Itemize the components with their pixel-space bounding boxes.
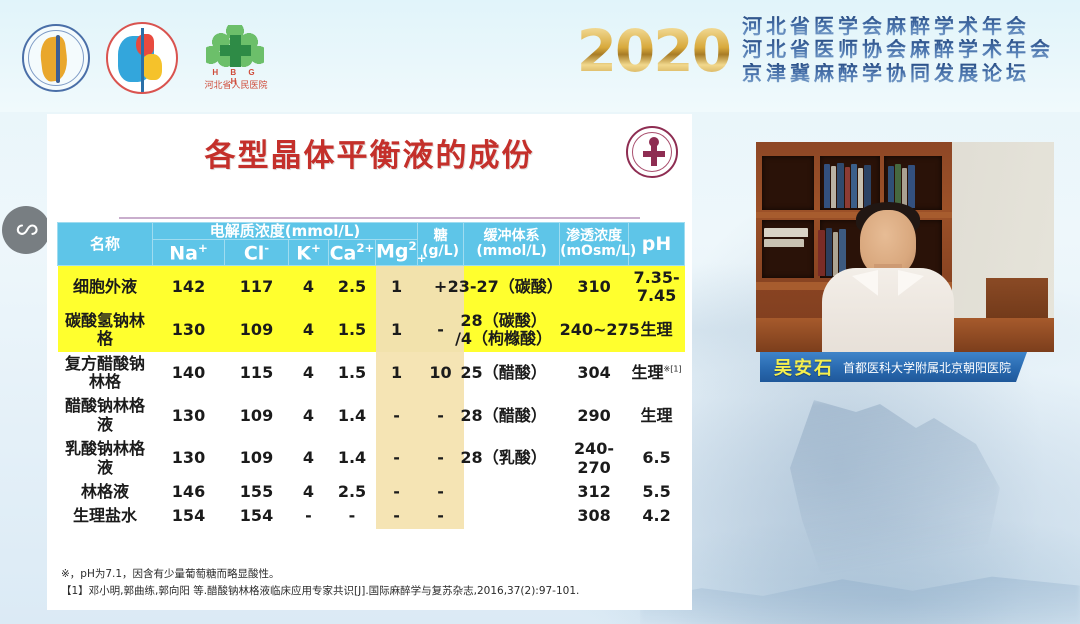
screen: H B G H 河北省人民医院 2020 河北省医学会麻醉学术年会 河北省医师协… (0, 0, 1080, 624)
cell-k: 4 (289, 394, 329, 437)
col-header-k-label: K (296, 242, 311, 264)
cell-osm: 290 (560, 394, 629, 437)
cell-name: 复方醋酸钠林格 (58, 352, 153, 395)
conference-header: H B G H 河北省人民医院 2020 河北省医学会麻醉学术年会 河北省医师协… (0, 0, 1080, 112)
col-header-na-charge: + (198, 241, 208, 255)
cell-ca: 1.5 (329, 309, 376, 352)
cell-na: 142 (153, 266, 225, 309)
speaker-name: 吴安石 (774, 354, 834, 380)
cell-mg: 1 (376, 309, 418, 352)
slide-title-row: 各型晶体平衡液的成份 (47, 114, 692, 188)
cell-ph: 4.2 (629, 504, 685, 528)
cell-name: 生理盐水 (58, 504, 153, 528)
cell-buffer: 28（醋酸） (464, 394, 560, 437)
col-header-ph: pH (629, 223, 685, 266)
cell-na: 130 (153, 309, 225, 352)
col-header-cl-charge: - (264, 241, 269, 255)
sponsor-logo-row: H B G H 河北省人民医院 (22, 22, 278, 94)
cell-name: 细胞外液 (58, 266, 153, 309)
cell-name: 醋酸钠林格液 (58, 394, 153, 437)
cell-buffer: 28（乳酸） (464, 437, 560, 480)
cell-buffer: 23-27（碳酸） (464, 266, 560, 309)
cell-buffer (464, 480, 560, 504)
cell-mg: - (376, 437, 418, 480)
speaker-nameplate: 吴安石 首都医科大学附属北京朝阳医院 (760, 352, 1027, 382)
cell-ca: 2.5 (329, 480, 376, 504)
col-header-cl-label: Cl (244, 242, 264, 264)
slide-title: 各型晶体平衡液的成份 (47, 130, 692, 175)
crystalloid-composition-table: 名称 电解质浓度(mmol/L) 糖 (g/L) 缓冲体系 (mmol/L) 渗… (57, 222, 685, 529)
cell-cl: 109 (225, 394, 289, 437)
cell-mg: 1 (376, 266, 418, 309)
cell-k: 4 (289, 266, 329, 309)
cell-cl: 117 (225, 266, 289, 309)
cell-buffer: 25（醋酸） (464, 352, 560, 395)
cell-ca: 2.5 (329, 266, 376, 309)
cell-ph-note: ※[1] (664, 364, 682, 373)
cell-sugar: - (418, 504, 464, 528)
col-header-na: Na+ (153, 240, 225, 266)
conference-line-1: 河北省医学会麻醉学术年会 (742, 16, 1054, 38)
conference-line-2: 河北省医师协会麻醉学术年会 (742, 39, 1054, 61)
table-body: 细胞外液14211742.51+23-27（碳酸）3107.35-7.45碳酸氢… (58, 266, 685, 529)
col-header-mg-charge2: + (417, 251, 427, 265)
cell-name: 林格液 (58, 480, 153, 504)
col-header-sugar-unit: (g/L) (422, 243, 459, 259)
background-ridge-art (640, 560, 1080, 624)
cell-ph: 6.5 (629, 437, 685, 480)
col-header-osmolarity-unit: (mOsm/L) (560, 243, 636, 259)
col-header-cl: Cl- (225, 240, 289, 266)
background-mountain-art (700, 400, 1000, 600)
col-header-sugar-label: 糖 (434, 228, 448, 244)
hebei-general-hospital-logo: H B G H 河北省人民医院 (194, 23, 278, 93)
cell-k: - (289, 504, 329, 528)
col-header-k-charge: + (311, 241, 321, 255)
col-header-ca-charge: 2+ (356, 241, 374, 255)
cell-cl: 154 (225, 504, 289, 528)
cell-na: 146 (153, 480, 225, 504)
cell-osm: 312 (560, 480, 629, 504)
cell-mg: - (376, 504, 418, 528)
cell-k: 4 (289, 352, 329, 395)
cell-na: 140 (153, 352, 225, 395)
table-row: 复方醋酸钠林格14011541.511025（醋酸）304生理※[1] (58, 352, 685, 395)
table-row: 醋酸钠林格液13010941.4--28（醋酸）290生理 (58, 394, 685, 437)
conference-title-block: 2020 河北省医学会麻醉学术年会 河北省医师协会麻醉学术年会 京津冀麻醉学协同… (577, 16, 1054, 85)
cell-na: 154 (153, 504, 225, 528)
cell-cl: 115 (225, 352, 289, 395)
table-row: 生理盐水154154----3084.2 (58, 504, 685, 528)
floating-link-button[interactable] (2, 206, 50, 254)
cell-name: 乳酸钠林格液 (58, 437, 153, 480)
col-header-osmolarity-label: 渗透浓度 (566, 228, 622, 244)
cell-k: 4 (289, 437, 329, 480)
cell-cl: 109 (225, 437, 289, 480)
table-row: 碳酸氢钠林格13010941.51-28（碳酸）/4（枸橼酸）240~275生理 (58, 309, 685, 352)
cell-osm: 310 (560, 266, 629, 309)
cell-buffer (464, 504, 560, 528)
cell-mg: - (376, 480, 418, 504)
cell-mg: 1 (376, 352, 418, 395)
col-header-mg: Mg2+ (376, 240, 418, 266)
speaker-shirt (822, 268, 954, 352)
col-header-buffer: 缓冲体系 (mmol/L) (464, 223, 560, 266)
col-header-name: 名称 (58, 223, 153, 266)
hospital-seal-icon (626, 126, 678, 178)
cell-k: 4 (289, 480, 329, 504)
col-group-header-electrolytes: 电解质浓度(mmol/L) (153, 223, 418, 240)
cell-ph: 7.35-7.45 (629, 266, 685, 309)
hospital-logo-name: 河北省人民医院 (198, 78, 274, 91)
col-header-buffer-label: 缓冲体系 (484, 228, 540, 244)
presentation-slide: 各型晶体平衡液的成份 (47, 114, 692, 610)
cell-ca: 1.4 (329, 394, 376, 437)
cell-na: 130 (153, 437, 225, 480)
col-header-ca-label: Ca (330, 242, 357, 264)
table-head: 名称 电解质浓度(mmol/L) 糖 (g/L) 缓冲体系 (mmol/L) 渗… (58, 223, 685, 266)
cell-cl: 155 (225, 480, 289, 504)
cell-osm: 240~275 (560, 309, 629, 352)
hebei-medical-association-logo (22, 24, 90, 92)
speaker-organization: 首都医科大学附属北京朝阳医院 (843, 359, 1011, 376)
conference-line-3: 京津冀麻醉学协同发展论坛 (742, 63, 1054, 85)
cell-ca: 1.4 (329, 437, 376, 480)
conference-year: 2020 (577, 22, 730, 80)
col-header-buffer-unit: (mmol/L) (476, 243, 546, 259)
col-header-na-label: Na (169, 242, 198, 264)
col-header-k: K+ (289, 240, 329, 266)
col-header-mg-label: Mg (376, 241, 409, 263)
col-header-ca: Ca2+ (329, 240, 376, 266)
cell-ph: 生理※[1] (629, 352, 685, 395)
cell-osm: 308 (560, 504, 629, 528)
footnote-line-2: 【1】邓小明,郭曲练,郭向阳 等.醋酸钠林格液临床应用专家共识[J].国际麻醉学… (61, 583, 671, 600)
hebei-doctor-association-logo (106, 22, 178, 94)
footnote-line-1: ※，pH为7.1，因含有少量葡萄糖而略显酸性。 (61, 566, 671, 583)
cell-osm: 304 (560, 352, 629, 395)
cell-k: 4 (289, 309, 329, 352)
cell-osm: 240-270 (560, 437, 629, 480)
cell-buffer: 28（碳酸）/4（枸橼酸） (464, 309, 560, 352)
infinity-link-icon (13, 217, 39, 243)
cell-ca: 1.5 (329, 352, 376, 395)
cell-ph: 5.5 (629, 480, 685, 504)
slide-footnotes: ※，pH为7.1，因含有少量葡萄糖而略显酸性。 【1】邓小明,郭曲练,郭向阳 等… (61, 566, 671, 601)
cell-ph: 生理 (629, 394, 685, 437)
cell-ca: - (329, 504, 376, 528)
col-header-osmolarity: 渗透浓度 (mOsm/L) (560, 223, 629, 266)
table-row: 乳酸钠林格液13010941.4--28（乳酸）240-2706.5 (58, 437, 685, 480)
table-row: 细胞外液14211742.51+23-27（碳酸）3107.35-7.45 (58, 266, 685, 309)
conference-name-lines: 河北省医学会麻醉学术年会 河北省医师协会麻醉学术年会 京津冀麻醉学协同发展论坛 (742, 16, 1054, 85)
cell-na: 130 (153, 394, 225, 437)
col-header-mg-charge: 2 (409, 239, 417, 253)
table-row: 林格液14615542.5--3125.5 (58, 480, 685, 504)
table-header-row-1: 名称 电解质浓度(mmol/L) 糖 (g/L) 缓冲体系 (mmol/L) 渗… (58, 223, 685, 240)
cell-name: 碳酸氢钠林格 (58, 309, 153, 352)
cell-sugar: - (418, 480, 464, 504)
speaker-video-panel[interactable] (756, 142, 1054, 352)
title-divider (119, 217, 640, 219)
cell-mg: - (376, 394, 418, 437)
cell-cl: 109 (225, 309, 289, 352)
